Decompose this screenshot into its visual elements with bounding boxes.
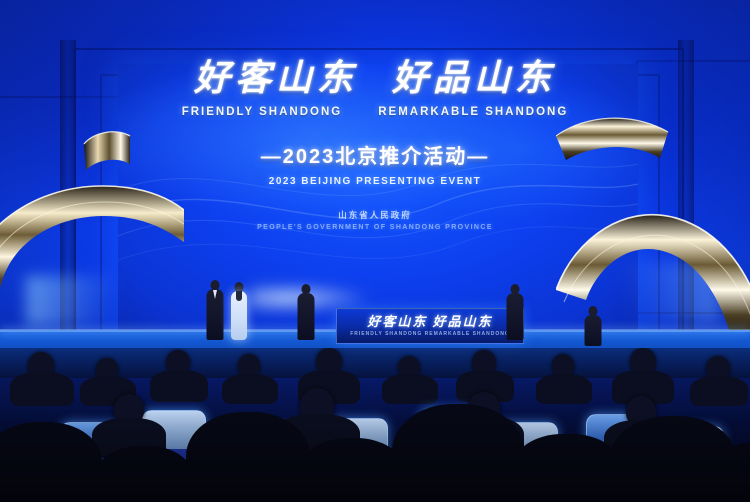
audience-shoulders — [10, 372, 74, 406]
event-title-en: 2023 BEIJING PRESENTING EVENT — [0, 176, 750, 187]
podium-banner: 好客山东 好品山东 FRIENDLY SHANDONG REMARKABLE S… — [336, 308, 524, 344]
organizer-en: PEOPLE'S GOVERNMENT OF SHANDONG PROVINCE — [0, 224, 750, 231]
audience-foreground-head — [0, 422, 102, 502]
stage-person-guest-right — [505, 284, 525, 340]
audience-foreground-head — [392, 404, 524, 502]
screen-title-block: 好客山东 好品山东 FRIENDLY SHANDONG REMARKABLE S… — [0, 60, 750, 231]
audience-shoulders — [690, 376, 748, 406]
audience-shoulders — [150, 370, 208, 402]
latin-friendly-shandong: FRIENDLY SHANDONG — [182, 106, 343, 118]
latin-subtitle-row: FRIENDLY SHANDONG REMARKABLE SHANDONG — [0, 106, 750, 118]
latin-remarkable-shandong: REMARKABLE SHANDONG — [378, 106, 568, 118]
audience-foreground-head — [96, 446, 192, 502]
stage-person-host-female — [228, 282, 250, 340]
calligraphy-remarkable-shandong: 好品山东 — [392, 60, 556, 96]
audience-area — [0, 348, 750, 502]
audience-foreground-head — [186, 412, 310, 502]
guest-right-body — [507, 293, 524, 340]
podium-banner-cn: 好客山东 好品山东 — [367, 315, 492, 328]
event-stage-photo: 好客山东 好品山东 FRIENDLY SHANDONG REMARKABLE S… — [0, 0, 750, 502]
audience-shoulders — [222, 374, 278, 404]
podium-banner-en: FRIENDLY SHANDONG REMARKABLE SHANDONG — [350, 331, 510, 337]
stage-person-guest-center — [296, 284, 316, 340]
audience-foreground-head — [512, 434, 622, 502]
event-title-cn: —2023北京推介活动— — [0, 140, 750, 169]
audience-foreground-head — [300, 438, 404, 502]
audience-shoulders — [536, 374, 592, 404]
organizer-cn: 山东省人民政府 — [0, 209, 750, 221]
host-female-dress — [231, 291, 247, 340]
calligraphy-friendly-shandong: 好客山东 — [194, 60, 358, 96]
calligraphy-row: 好客山东 好品山东 — [0, 60, 750, 96]
stage-person-host-male — [204, 280, 226, 340]
guest-far-right-body — [585, 315, 602, 346]
stage-person-guest-far-right — [582, 306, 604, 346]
guest-center-body — [298, 293, 315, 340]
audience-shoulders — [382, 374, 438, 404]
